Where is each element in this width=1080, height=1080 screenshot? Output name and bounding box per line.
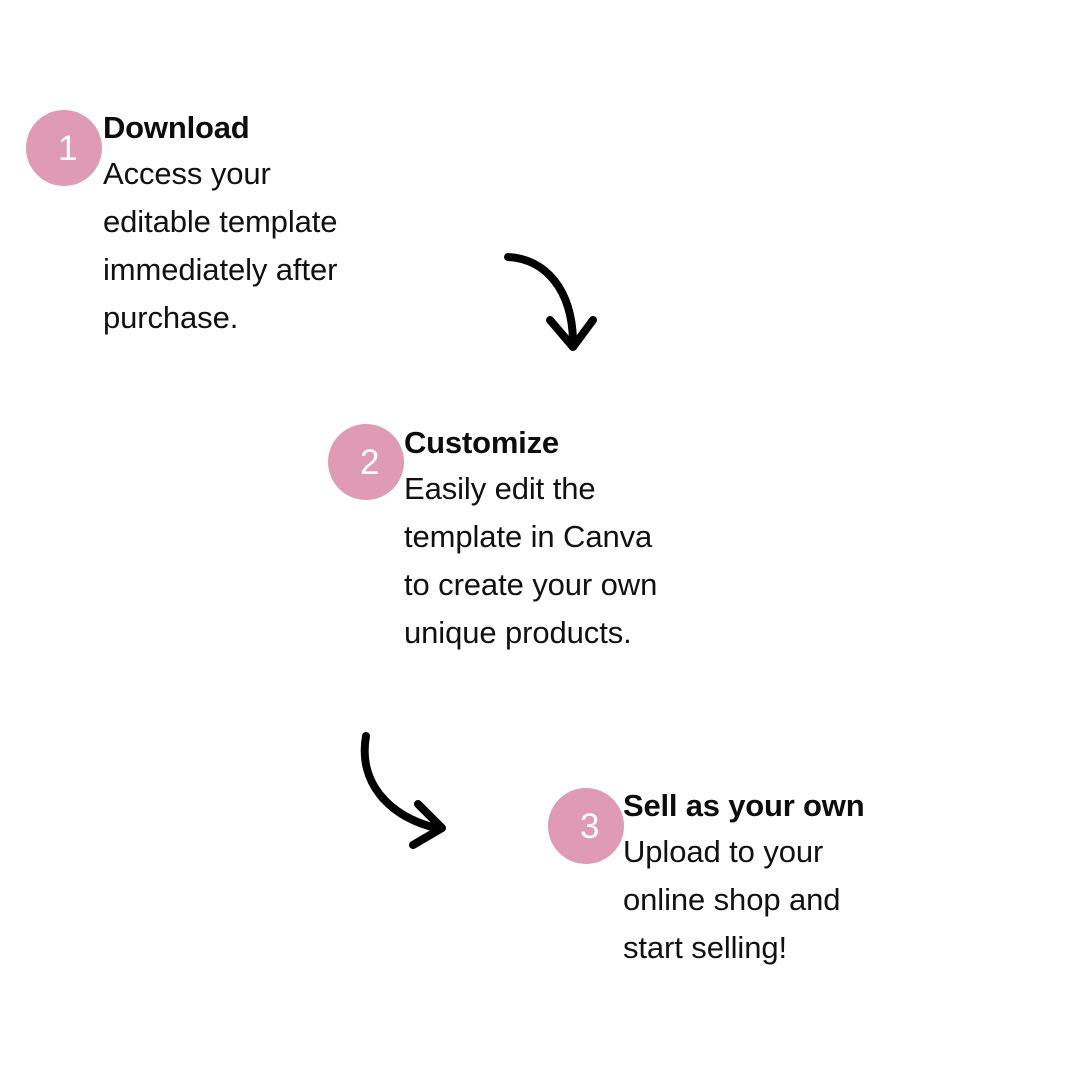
- step-2-body-line: unique products.: [404, 609, 657, 657]
- step-2-number: 2: [328, 424, 404, 500]
- step-2-body-line: Easily edit the: [404, 465, 657, 513]
- curved-arrow-right-icon: [350, 718, 480, 858]
- step-3-body-line: Upload to your: [623, 828, 864, 876]
- step-3-text: Sell as your own Upload to your online s…: [623, 784, 864, 972]
- step-2-body-line: template in Canva: [404, 513, 657, 561]
- step-1-body-line: purchase.: [103, 294, 337, 342]
- step-1-text: Download Access your editable template i…: [103, 106, 337, 342]
- step-1-badge: 1: [26, 110, 102, 186]
- step-2-text: Customize Easily edit the template in Ca…: [404, 421, 657, 657]
- curved-arrow-down-icon: [490, 238, 620, 368]
- step-2-body: Easily edit the template in Canva to cre…: [404, 465, 657, 657]
- step-1-body-line: editable template: [103, 198, 337, 246]
- step-2-body-line: to create your own: [404, 561, 657, 609]
- step-1-body: Access your editable template immediatel…: [103, 150, 337, 342]
- step-3-body-line: start selling!: [623, 924, 864, 972]
- step-1-title: Download: [103, 106, 337, 150]
- step-3-number: 3: [548, 788, 624, 864]
- step-3-body: Upload to your online shop and start sel…: [623, 828, 864, 972]
- step-2-title: Customize: [404, 421, 657, 465]
- infographic-canvas: 1 Download Access your editable template…: [0, 0, 1080, 1080]
- step-3-badge: 3: [548, 788, 624, 864]
- step-1-body-line: Access your: [103, 150, 337, 198]
- step-3-title: Sell as your own: [623, 784, 864, 828]
- step-1-body-line: immediately after: [103, 246, 337, 294]
- step-3-body-line: online shop and: [623, 876, 864, 924]
- step-2-badge: 2: [328, 424, 404, 500]
- step-1-number: 1: [26, 110, 102, 186]
